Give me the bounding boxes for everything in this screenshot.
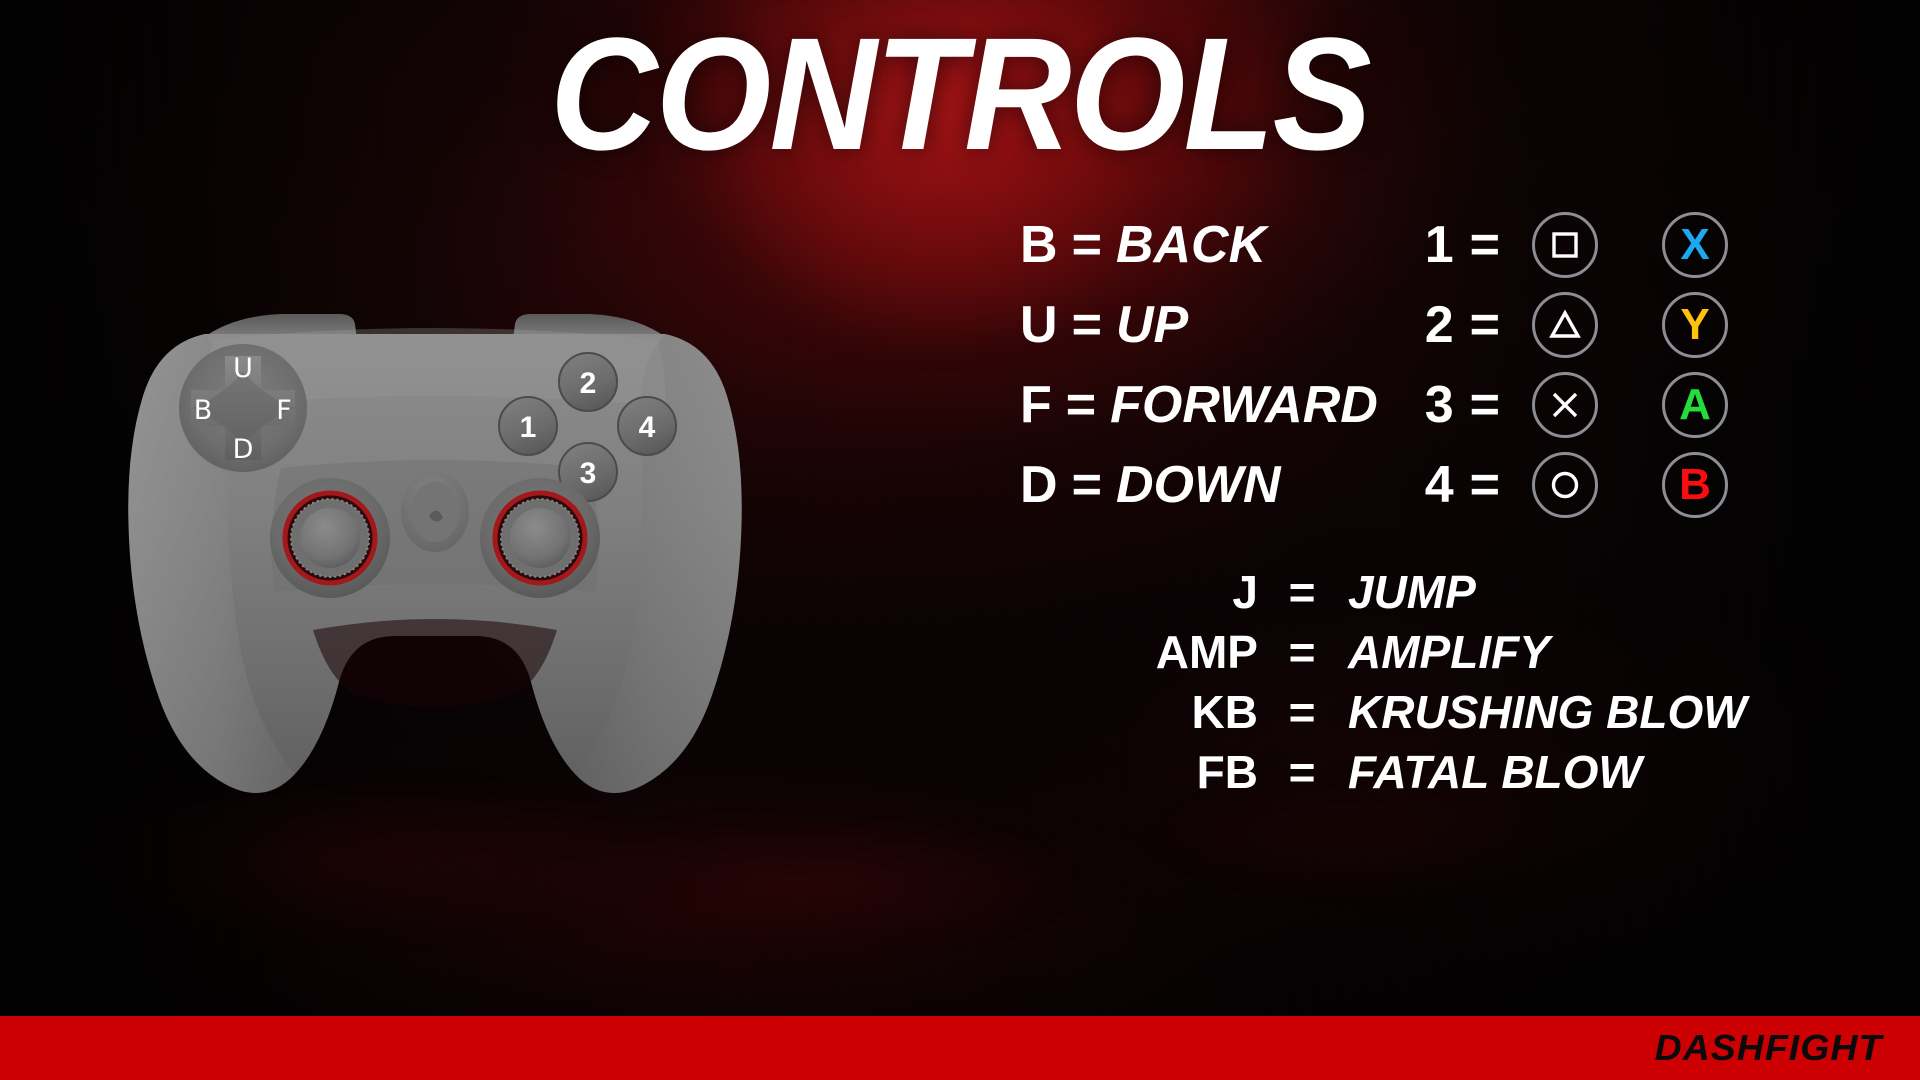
mapping-grid: B = BACK 1 = X <box>1020 205 1860 525</box>
button-equals: = <box>1470 205 1500 285</box>
direction-entry: F = FORWARD <box>1020 365 1320 445</box>
controls-screen: CONTROLS <box>0 0 1920 1080</box>
direction-value: DOWN <box>1116 445 1281 525</box>
button-number-entry: 3 = <box>1320 365 1500 445</box>
direction-key: B <box>1020 205 1058 285</box>
abbreviation-equals: = <box>1280 742 1324 802</box>
playstation-button-cell <box>1500 205 1630 285</box>
abbreviation-value: FATAL BLOW <box>1324 742 1860 802</box>
face-button-label-2: 2 <box>580 367 597 400</box>
playstation-pill <box>1532 212 1598 278</box>
direction-equals: = <box>1072 285 1102 365</box>
button-number-entry: 2 = <box>1320 285 1500 365</box>
playstation-pill <box>1532 372 1598 438</box>
button-number-entry: 4 = <box>1320 445 1500 525</box>
button-number: 4 <box>1425 445 1454 525</box>
face-button-label-1: 1 <box>520 411 537 444</box>
dpad-label-down: D <box>233 434 254 465</box>
direction-equals: = <box>1072 445 1102 525</box>
face-button-label-4: 4 <box>639 411 656 444</box>
button-number: 2 <box>1425 285 1454 365</box>
abbreviation-key: AMP <box>1020 622 1280 682</box>
xbox-button-cell: A <box>1630 365 1760 445</box>
circle-icon <box>1547 467 1583 503</box>
xbox-button-cell: Y <box>1630 285 1760 365</box>
direction-key: D <box>1020 445 1058 525</box>
gamepad-illustration: U D B F 2 1 4 3 <box>85 300 785 820</box>
dpad-label-up: U <box>233 353 253 384</box>
left-stick-cap <box>300 508 360 568</box>
direction-value: UP <box>1116 285 1188 365</box>
direction-value: BACK <box>1116 205 1266 285</box>
direction-entry: B = BACK <box>1020 205 1320 285</box>
abbreviation-value: AMPLIFY <box>1324 622 1860 682</box>
xbox-letter-x: X <box>1680 223 1709 267</box>
xbox-letter-y: Y <box>1680 303 1709 347</box>
face-button-label-3: 3 <box>580 457 597 490</box>
mapping-panel: B = BACK 1 = X <box>1020 205 1860 525</box>
button-number: 1 <box>1425 205 1454 285</box>
xbox-button-cell: X <box>1630 205 1760 285</box>
playstation-button-cell <box>1500 445 1630 525</box>
button-number: 3 <box>1425 365 1454 445</box>
footer-bar: DASHFIGHT <box>0 1016 1920 1080</box>
xbox-button-cell: B <box>1630 445 1760 525</box>
abbreviation-equals: = <box>1280 622 1324 682</box>
playstation-button-cell <box>1500 365 1630 445</box>
body-bottom-shadow <box>313 619 557 707</box>
direction-entry: U = UP <box>1020 285 1320 365</box>
abbreviation-equals: = <box>1280 562 1324 622</box>
dpad-label-back: B <box>194 395 213 426</box>
dashfight-logo: DASHFIGHT <box>1655 1027 1883 1069</box>
direction-equals: = <box>1072 205 1102 285</box>
button-equals: = <box>1470 285 1500 365</box>
square-icon <box>1547 227 1583 263</box>
direction-key: U <box>1020 285 1058 365</box>
abbreviation-value: KRUSHING BLOW <box>1324 682 1860 742</box>
direction-key: F <box>1020 365 1052 445</box>
xbox-letter-a: A <box>1679 383 1711 427</box>
direction-entry: D = DOWN <box>1020 445 1320 525</box>
button-number-entry: 1 = <box>1320 205 1500 285</box>
page-title: CONTROLS <box>67 14 1853 174</box>
abbreviation-key: KB <box>1020 682 1280 742</box>
xbox-pill: A <box>1662 372 1728 438</box>
button-equals: = <box>1470 445 1500 525</box>
dpad-label-forward: F <box>276 395 292 426</box>
playstation-pill <box>1532 292 1598 358</box>
right-stick-cap <box>510 508 570 568</box>
abbreviation-key: J <box>1020 562 1280 622</box>
abbreviation-value: JUMP <box>1324 562 1860 622</box>
abbreviation-list: J = JUMP AMP = AMPLIFY KB = KRUSHING BLO… <box>1020 562 1860 802</box>
xbox-pill: Y <box>1662 292 1728 358</box>
direction-equals: = <box>1066 365 1096 445</box>
playstation-button-cell <box>1500 285 1630 365</box>
triangle-icon <box>1547 307 1583 343</box>
xbox-letter-b: B <box>1679 463 1711 507</box>
xbox-pill: B <box>1662 452 1728 518</box>
button-equals: = <box>1470 365 1500 445</box>
cross-icon <box>1547 387 1583 423</box>
xbox-pill: X <box>1662 212 1728 278</box>
abbreviation-key: FB <box>1020 742 1280 802</box>
playstation-pill <box>1532 452 1598 518</box>
abbreviation-equals: = <box>1280 682 1324 742</box>
